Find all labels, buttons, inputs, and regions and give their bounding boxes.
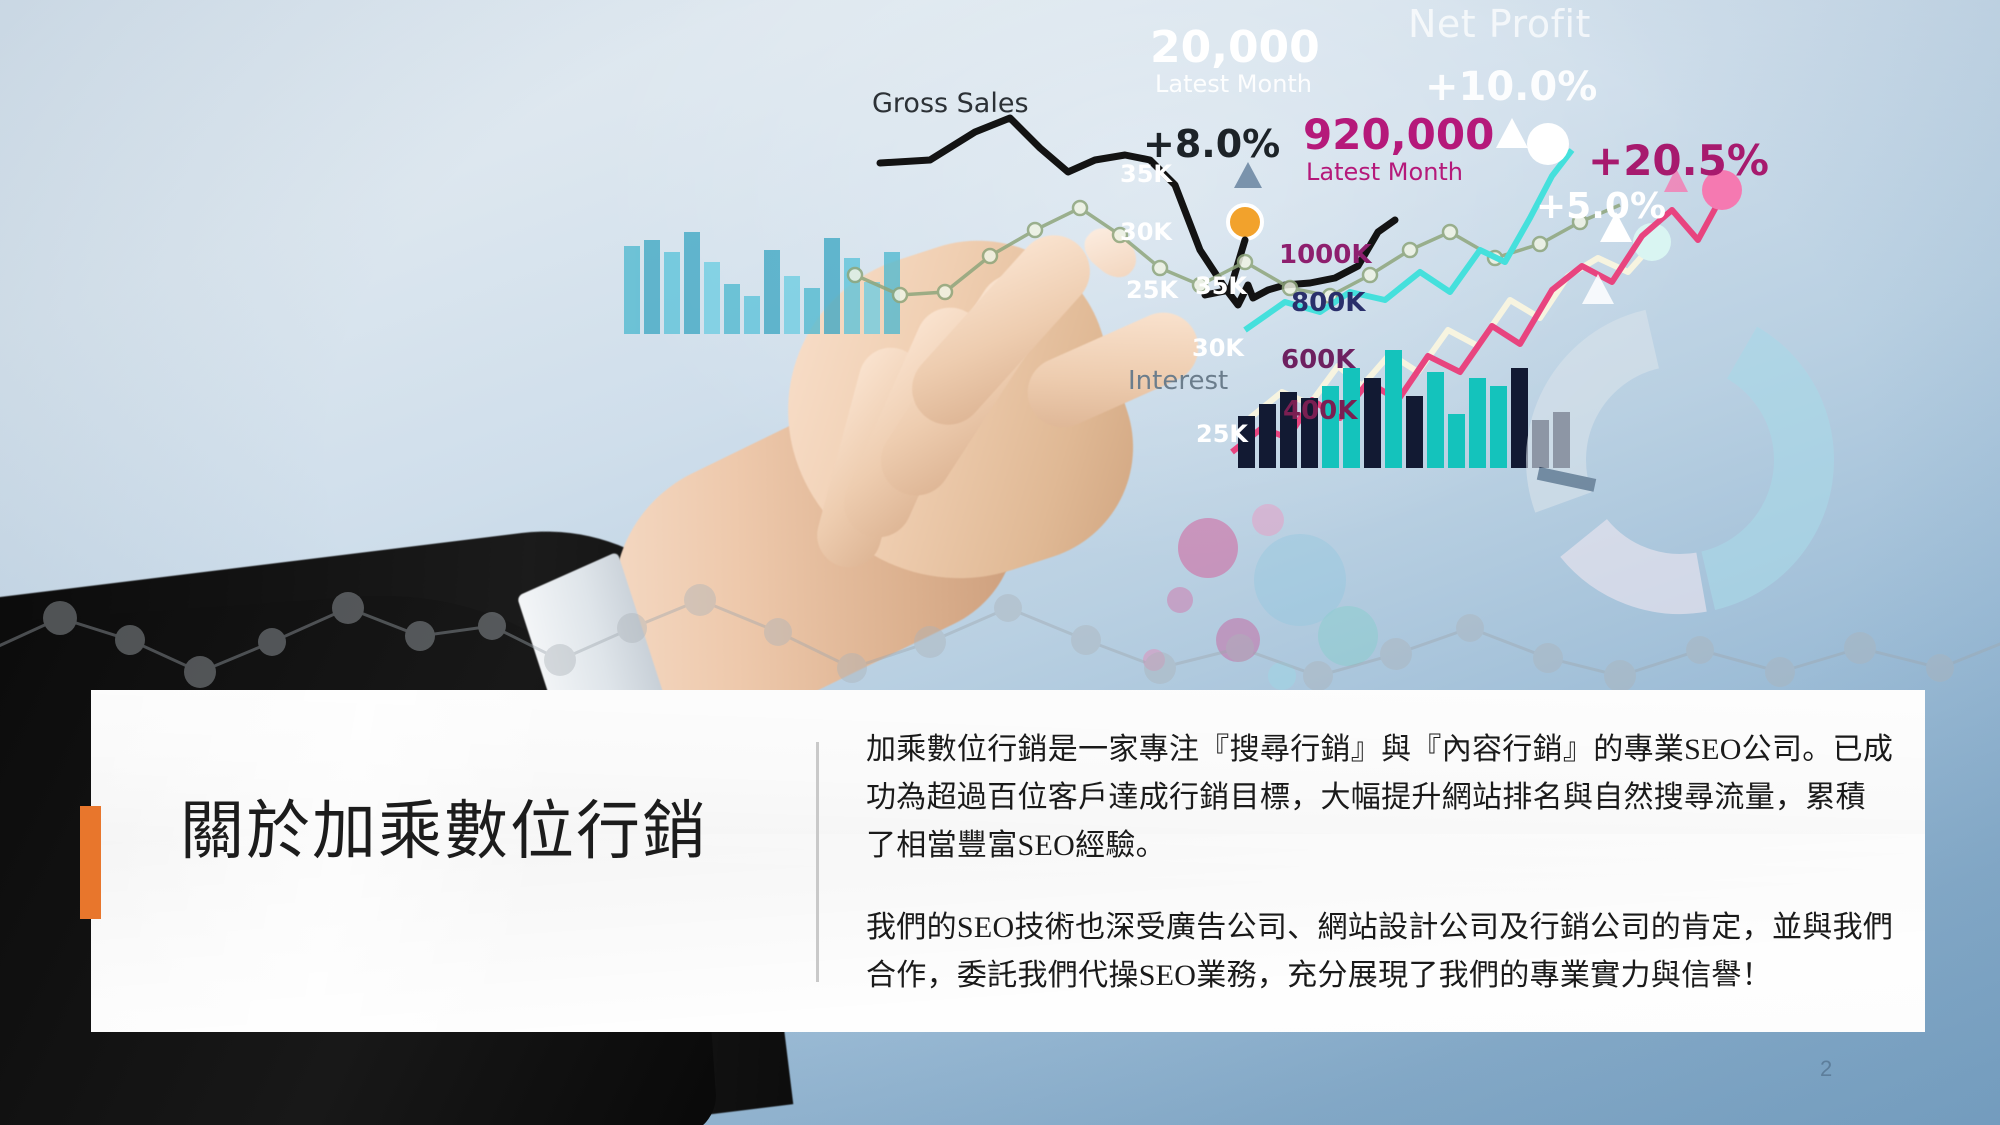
slide: Gross Sales Interest Net Profit 20,000 L…: [0, 0, 2000, 1125]
axis-tick-left-35k: 35K: [1120, 160, 1172, 188]
net-profit-label: Net Profit: [1408, 2, 1591, 46]
secondary-change: +5.0%: [1536, 186, 1666, 227]
body-paragraph-1: 加乘數位行銷是一家專注『搜尋行銷』與『內容行銷』的專業SEO公司。已成功為超過百…: [866, 726, 1896, 870]
gross-sales-label: Gross Sales: [872, 88, 1029, 119]
axis-tick-left-30k: 30K: [1120, 218, 1172, 246]
donut-chart: [1511, 291, 1850, 630]
vertical-divider: [816, 742, 819, 982]
title-accent-bar: [80, 806, 101, 919]
net-profit-change: +10.0%: [1425, 64, 1597, 110]
revenue-value: 920,000: [1303, 110, 1494, 159]
axis-tick-right-800k: 800K: [1291, 288, 1365, 318]
interest-label: Interest: [1128, 366, 1228, 396]
gross-sales-endpoint: [1228, 205, 1262, 239]
body-paragraph-2: 我們的SEO技術也深受廣告公司、網站設計公司及行銷公司的肯定，並與我們合作，委託…: [866, 904, 1896, 1000]
body-text-block: 加乘數位行銷是一家專注『搜尋行銷』與『內容行銷』的專業SEO公司。已成功為超過百…: [866, 726, 1896, 1000]
axis-tick-mid-25k: 25K: [1196, 420, 1248, 448]
axis-tick-right-600k: 600K: [1281, 345, 1355, 375]
axis-tick-mid-35k: 35K: [1195, 272, 1247, 300]
page-number: 2: [1820, 1056, 1832, 1082]
revenue-endpoint: [1527, 123, 1569, 165]
axis-tick-mid-30k: 30K: [1192, 334, 1244, 362]
bar-chart-left: [624, 232, 900, 334]
page-title: 關於加乘數位行銷: [180, 795, 780, 869]
axis-tick-left-25k: 25K: [1126, 276, 1178, 304]
axis-tick-right-400k: 400K: [1283, 396, 1357, 426]
axis-tick-right-1000k: 1000K: [1279, 240, 1372, 270]
latest-month-caption: Latest Month: [1155, 70, 1312, 98]
latest-month-value: 20,000: [1150, 22, 1320, 73]
revenue-caption: Latest Month: [1306, 158, 1463, 186]
revenue-change: +20.5%: [1588, 136, 1769, 185]
